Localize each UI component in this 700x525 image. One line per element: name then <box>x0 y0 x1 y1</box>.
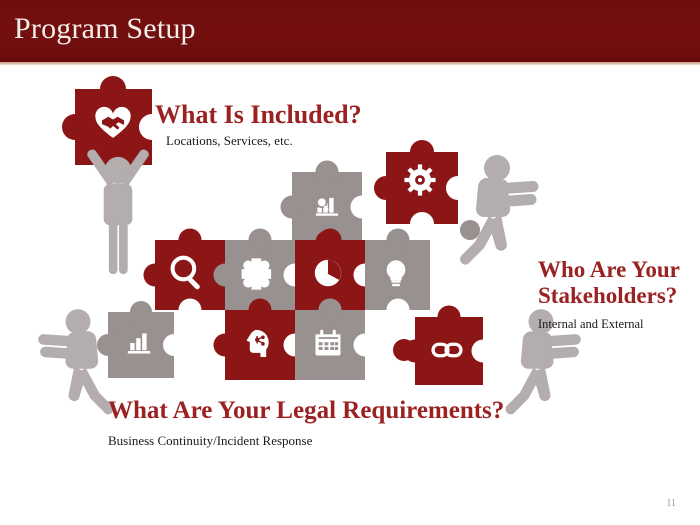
gear-icon <box>404 164 435 195</box>
subtext-what-are-your-legal-requirements: Business Continuity/Incident Response <box>108 433 312 449</box>
page-number: 11 <box>666 498 676 509</box>
heading-what-are-your-legal-requirements: What Are Your Legal Requirements? <box>108 397 504 425</box>
puzzle-piece-mind[interactable] <box>214 299 307 381</box>
lifting-figure <box>87 150 148 275</box>
stray-knob-gray <box>460 220 480 240</box>
subtext-who-are-your-stakeholders: Internal and External <box>538 317 644 332</box>
page-title: Program Setup <box>14 12 196 46</box>
heading-who-are-your-stakeholders: Who Are Your Stakeholders? <box>538 257 700 309</box>
slide-title-bar: Program Setup <box>0 0 700 62</box>
pushing-figure-right <box>460 155 538 265</box>
slide-canvas: Program Setup <box>0 0 700 525</box>
puzzle-piece-calendar[interactable] <box>295 299 377 381</box>
stray-knob-red <box>393 339 415 361</box>
pushing-figure-left <box>38 309 113 414</box>
puzzle-piece-search[interactable] <box>144 229 237 322</box>
puzzle-piece-gear[interactable] <box>374 140 470 236</box>
puzzle-piece-link[interactable] <box>404 306 495 386</box>
heading-what-is-included: What Is Included? <box>155 100 362 129</box>
puzzle-piece-bars[interactable] <box>97 301 185 378</box>
pie-chart-icon <box>315 260 341 286</box>
puzzle-piece-bulb[interactable] <box>365 229 430 322</box>
subtext-what-is-included: Locations, Services, etc. <box>166 133 293 149</box>
puzzle-piece-icon <box>242 258 272 289</box>
